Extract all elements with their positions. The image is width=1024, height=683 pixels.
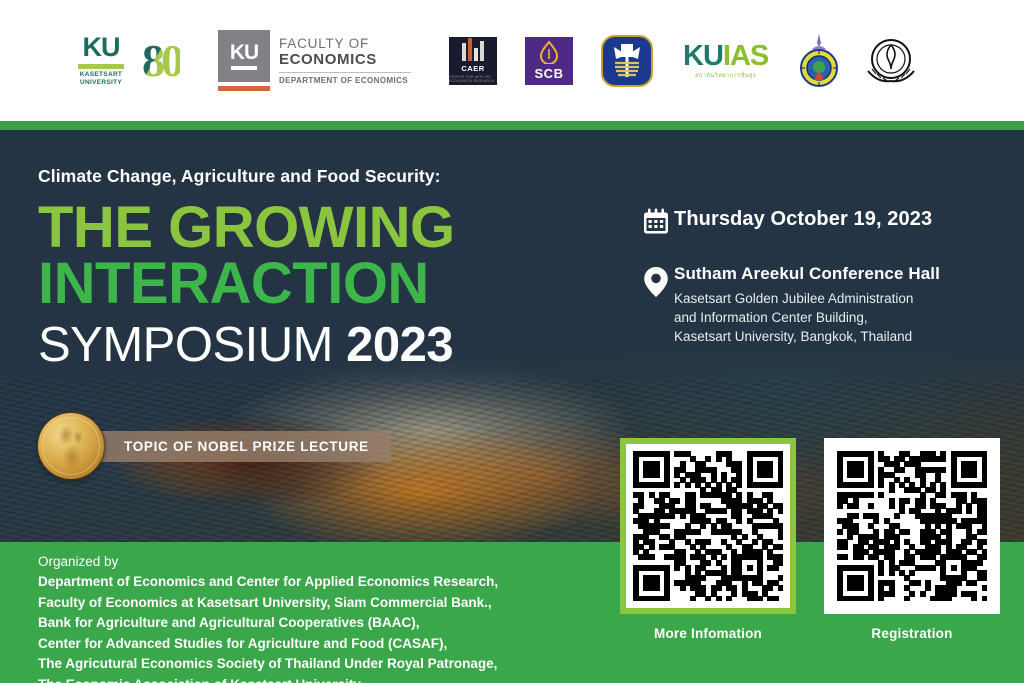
caer-label: CAER (461, 64, 484, 73)
baac-tree-icon (607, 41, 647, 81)
more-information-qr-label: More Infomation (654, 626, 762, 641)
faculty-line-1: FACULTY OF (279, 36, 411, 52)
nobel-badge-label: TOPIC OF NOBEL PRIZE LECTURE (94, 431, 391, 462)
baac-badge-icon (601, 35, 653, 87)
faculty-divider (279, 72, 411, 73)
baac-logo (601, 35, 653, 87)
kuias-logo: KUIAS สถาบันวิทยาการขั้นสูง (683, 42, 768, 80)
organizers-block: Organized by Department of Economics and… (38, 552, 498, 683)
faculty-ku-underline (231, 66, 257, 70)
ku-rule (78, 64, 124, 69)
organizers-list: Department of Economics and Center for A… (38, 572, 498, 683)
caer-bars-icon (462, 38, 484, 61)
more-information-qr-quiet-zone (626, 444, 790, 608)
kuias-ias: IAS (723, 40, 768, 72)
ku-80-logo: KU KASETSART UNIVERSITY 80 (78, 34, 180, 87)
scb-label: SCB (535, 66, 564, 81)
faculty-text: FACULTY OF ECONOMICS DEPARTMENT OF ECONO… (279, 30, 411, 91)
organizer-line: Bank for Agriculture and Agricultural Co… (38, 613, 498, 634)
organizer-line: Center for Advanced Studies for Agricult… (38, 634, 498, 655)
event-date-row: Thursday October 19, 2023 (638, 205, 940, 237)
faculty-ku-square: KU (218, 30, 270, 82)
event-info-block: Thursday October 19, 2023 Sutham Areekul… (638, 205, 940, 346)
event-address-line-3: Kasetsart University, Bangkok, Thailand (674, 327, 940, 346)
caer-sublabel: CENTER FOR APPLIED ECONOMICS RESEARCH (449, 75, 497, 83)
organizer-line: The Agricutural Economics Society of Tha… (38, 654, 498, 675)
ku-mark: KU KASETSART UNIVERSITY (78, 34, 124, 87)
nobel-medal-icon (38, 413, 104, 479)
registration-qr-label: Registration (871, 626, 952, 641)
location-pin-icon (638, 264, 674, 298)
more-information-qr-image[interactable] (633, 451, 783, 601)
organizer-line: The Economic Association of Kasetsart Un… (38, 675, 498, 683)
title-block: Climate Change, Agriculture and Food Sec… (38, 166, 455, 370)
event-date: Thursday October 19, 2023 (674, 205, 932, 231)
kuias-ku: KU (683, 40, 723, 72)
kuias-thai-label: สถาบันวิทยาการขั้นสูง (695, 72, 756, 80)
royal-seal-logo (794, 33, 844, 89)
royal-crest-icon (794, 33, 844, 89)
faculty-line-2: ECONOMICS (279, 51, 411, 68)
sponsor-logo-bar: KU KASETSART UNIVERSITY 80 KU FACULTY OF… (0, 0, 1024, 121)
hero-subtitle-word: SYMPOSIUM (38, 318, 333, 372)
ku-sub-university: UNIVERSITY (80, 79, 122, 87)
scb-logo: SCB (525, 37, 573, 85)
organizers-lead: Organized by (38, 552, 498, 572)
faculty-of-economics-logo: KU FACULTY OF ECONOMICS DEPARTMENT OF EC… (218, 30, 411, 91)
hero-kicker: Climate Change, Agriculture and Food Sec… (38, 166, 455, 187)
faculty-line-3: DEPARTMENT OF ECONOMICS (279, 76, 411, 85)
event-venue-name: Sutham Areekul Conference Hall (674, 264, 940, 284)
nobel-medal-rim (42, 417, 100, 475)
registration-qr-image[interactable] (837, 451, 987, 601)
qr-code-zone: More Infomation Registration (620, 438, 1000, 641)
hero-title-line-1: THE GROWING (38, 200, 455, 256)
event-address-line-2: and Information Center Building, (674, 308, 940, 327)
anniversary-80-mark: 80 (142, 38, 180, 84)
registration-qr-quiet-zone (830, 444, 994, 608)
ku-sub-kasetsart: KASETSART (80, 71, 122, 79)
symposium-poster: KU KASETSART UNIVERSITY 80 KU FACULTY OF… (0, 0, 1024, 683)
event-address-line-1: Kasetsart Golden Jubilee Administration (674, 289, 940, 308)
green-divider (0, 121, 1024, 130)
registration-qr-frame (824, 438, 1000, 614)
agricultural-economics-society-seal (864, 35, 918, 87)
faculty-orange-bar (218, 86, 270, 91)
caer-logo: CAER CENTER FOR APPLIED ECONOMICS RESEAR… (449, 37, 497, 85)
faculty-ku-letters: KU (230, 42, 258, 63)
ku-letters: KU (83, 34, 120, 61)
more-information-qr-frame (620, 438, 796, 614)
society-emblem-icon (864, 35, 918, 87)
hero-title-line-2: INTERACTION (38, 256, 455, 312)
calendar-icon (638, 205, 674, 237)
organizer-line: Faculty of Economics at Kasetsart Univer… (38, 593, 498, 614)
hero-subtitle-year: 2023 (346, 318, 453, 372)
event-address: Kasetsart Golden Jubilee Administration … (674, 289, 940, 346)
scb-leaf-icon (538, 40, 560, 64)
more-information-qr[interactable]: More Infomation (620, 438, 796, 641)
event-venue-row: Sutham Areekul Conference Hall Kasetsart… (638, 264, 940, 346)
kuias-wordmark: KUIAS (683, 42, 768, 71)
nobel-badge-row: TOPIC OF NOBEL PRIZE LECTURE (38, 413, 391, 479)
organizer-line: Department of Economics and Center for A… (38, 572, 498, 593)
event-venue-text: Sutham Areekul Conference Hall Kasetsart… (674, 264, 940, 346)
hero-subtitle: SYMPOSIUM 2023 (38, 321, 455, 371)
registration-qr[interactable]: Registration (824, 438, 1000, 641)
faculty-ku-mark: KU (218, 30, 270, 91)
